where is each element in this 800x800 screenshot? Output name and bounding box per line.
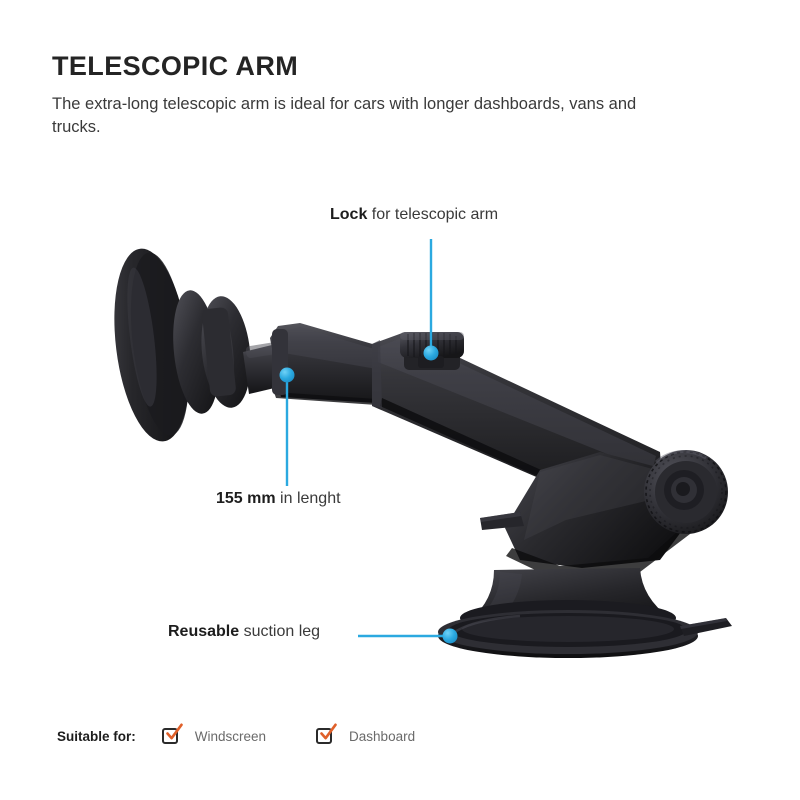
suitable-option-windscreen[interactable]: Windscreen <box>162 726 266 747</box>
header-block: TELESCOPIC ARM The extra-long telescopic… <box>52 52 692 140</box>
callout-dot-suction <box>443 629 458 644</box>
callout-lock-rest: for telescopic arm <box>367 206 498 223</box>
suction-pull-tab <box>680 618 732 636</box>
leader-line-suction <box>358 629 458 644</box>
suitable-option-label: Windscreen <box>195 729 266 744</box>
infographic-canvas: TELESCOPIC ARM The extra-long telescopic… <box>0 0 800 800</box>
suitable-option-label: Dashboard <box>349 729 415 744</box>
page-subtitle: The extra-long telescopic arm is ideal f… <box>52 93 677 140</box>
check-icon <box>317 723 338 744</box>
telescopic-inner-rod <box>243 341 283 394</box>
checkbox-checked-icon[interactable] <box>316 726 337 747</box>
page-title: TELESCOPIC ARM <box>52 52 692 82</box>
suitable-option-dashboard[interactable]: Dashboard <box>316 726 415 747</box>
neck-side-tab <box>480 512 524 530</box>
suction-cup <box>460 568 676 636</box>
callout-length-strong: 155 mm <box>216 490 276 507</box>
telescopic-arm-barrel <box>372 332 664 520</box>
leader-line-length <box>280 368 295 487</box>
pivot-neck <box>505 452 690 578</box>
suction-base-ring <box>438 610 698 658</box>
callout-suction-rest: suction leg <box>239 623 320 640</box>
callout-length-rest: in lenght <box>276 490 341 507</box>
magnetic-plate <box>104 244 199 445</box>
callout-dot-lock <box>424 346 439 361</box>
callout-suction-strong: Reusable <box>168 623 239 640</box>
lock-knob <box>400 332 464 370</box>
checkbox-checked-icon[interactable] <box>162 726 183 747</box>
telescopic-outer-sleeve <box>270 323 400 406</box>
callout-dot-length <box>280 368 295 383</box>
callout-label-lock: Lock for telescopic arm <box>330 207 498 223</box>
suitable-for-label: Suitable for: <box>57 729 136 744</box>
ball-joint <box>168 288 256 416</box>
tilt-knob <box>644 450 728 534</box>
suitable-for-row: Suitable for: Windscreen Dashboard <box>57 726 465 747</box>
check-icon <box>163 723 184 744</box>
callout-label-suction: Reusable suction leg <box>168 624 320 640</box>
callout-lock-strong: Lock <box>330 206 367 223</box>
callout-label-length: 155 mm in lenght <box>216 491 341 507</box>
leader-line-lock <box>424 239 439 361</box>
